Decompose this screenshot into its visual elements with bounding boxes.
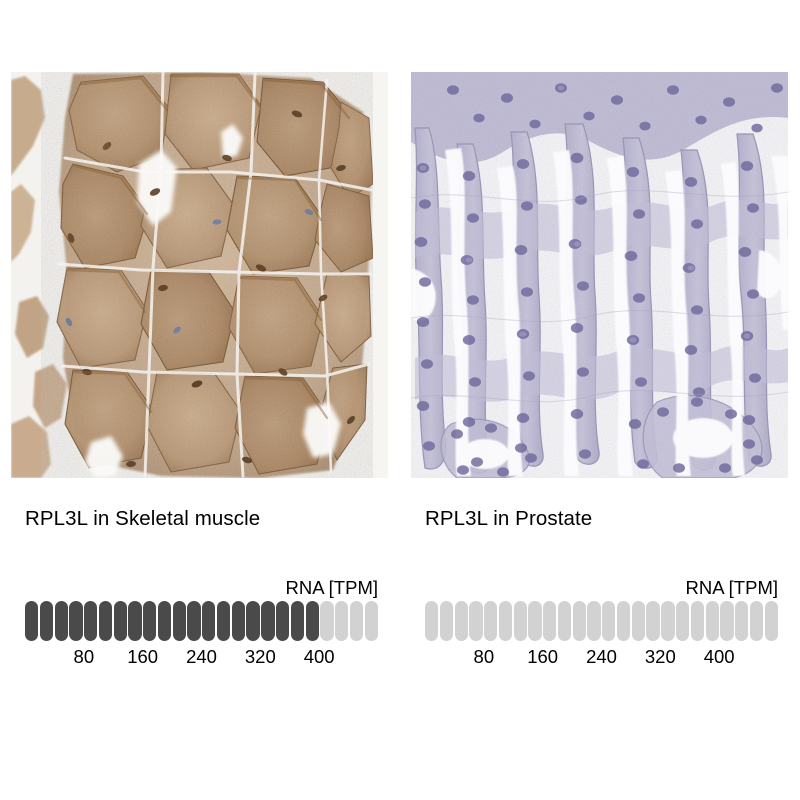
- rna-label-prostate: RNA [TPM]: [425, 577, 778, 599]
- rna-gauge-segment: [276, 601, 289, 641]
- rna-ticks-skeletal-muscle: 80160240320400: [25, 645, 378, 671]
- rna-gauge-segment: [217, 601, 230, 641]
- rna-gauge-segment: [335, 601, 348, 641]
- rna-gauge-segment: [617, 601, 630, 641]
- rna-tick-label: 320: [245, 645, 276, 669]
- rna-gauge-segment: [573, 601, 586, 641]
- rna-gauge-segment: [750, 601, 763, 641]
- rna-gauge-segment: [173, 601, 186, 641]
- panel-skeletal-muscle: RPL3L in Skeletal muscle RNA [TPM] 80160…: [0, 0, 400, 800]
- rna-tick-label: 160: [127, 645, 158, 669]
- rna-gauge-segment: [306, 601, 319, 641]
- caption-skeletal-muscle: RPL3L in Skeletal muscle: [25, 506, 260, 532]
- rna-gauge-segment: [143, 601, 156, 641]
- micrograph-prostate[interactable]: [411, 72, 788, 478]
- rna-label-skeletal-muscle: RNA [TPM]: [25, 577, 378, 599]
- rna-ticks-prostate: 80160240320400: [425, 645, 778, 671]
- rna-gauge-segment: [84, 601, 97, 641]
- rna-gauge-segment: [602, 601, 615, 641]
- rna-gauge-segment: [484, 601, 497, 641]
- rna-gauge-segment: [646, 601, 659, 641]
- rna-gauge-segment: [128, 601, 141, 641]
- rna-tick-label: 80: [74, 645, 95, 669]
- rna-gauge-segment: [514, 601, 527, 641]
- rna-gauge-segment: [528, 601, 541, 641]
- rna-gauge-segment: [99, 601, 112, 641]
- panel-prostate: RPL3L in Prostate RNA [TPM] 801602403204…: [400, 0, 800, 800]
- micrograph-skeletal-muscle[interactable]: [11, 72, 388, 478]
- rna-gauge-segment: [706, 601, 719, 641]
- rna-gauge-segment: [365, 601, 378, 641]
- rna-tick-label: 240: [186, 645, 217, 669]
- rna-gauge-segment: [720, 601, 733, 641]
- rna-gauge-segment: [425, 601, 438, 641]
- rna-gauge-segment: [69, 601, 82, 641]
- rna-gauge-prostate: [425, 601, 778, 641]
- rna-gauge-segment: [632, 601, 645, 641]
- rna-gauge-segment: [735, 601, 748, 641]
- rna-gauge-segment: [587, 601, 600, 641]
- rna-gauge-segment: [291, 601, 304, 641]
- rna-gauge-segment: [320, 601, 333, 641]
- rna-gauge-skeletal-muscle: [25, 601, 378, 641]
- rna-gauge-segment: [158, 601, 171, 641]
- rna-gauge-segment: [765, 601, 778, 641]
- rna-tick-label: 80: [474, 645, 495, 669]
- figure-root: RPL3L in Skeletal muscle RNA [TPM] 80160…: [0, 0, 800, 800]
- rna-tick-label: 400: [704, 645, 735, 669]
- micrograph-prostate-image: [411, 72, 788, 478]
- rna-gauge-segment: [440, 601, 453, 641]
- rna-gauge-segment: [55, 601, 68, 641]
- rna-gauge-segment: [469, 601, 482, 641]
- rna-tick-label: 240: [586, 645, 617, 669]
- rna-gauge-segment: [261, 601, 274, 641]
- caption-prostate: RPL3L in Prostate: [425, 506, 592, 532]
- rna-tick-label: 320: [645, 645, 676, 669]
- rna-gauge-segment: [455, 601, 468, 641]
- rna-gauge-segment: [499, 601, 512, 641]
- rna-gauge-segment: [661, 601, 674, 641]
- rna-gauge-segment: [40, 601, 53, 641]
- rna-tick-label: 160: [527, 645, 558, 669]
- micrograph-skeletal-muscle-image: [11, 72, 388, 478]
- rna-gauge-segment: [25, 601, 38, 641]
- rna-gauge-segment: [187, 601, 200, 641]
- rna-tick-label: 400: [304, 645, 335, 669]
- rna-gauge-segment: [676, 601, 689, 641]
- rna-gauge-segment: [558, 601, 571, 641]
- rna-gauge-segment: [543, 601, 556, 641]
- rna-gauge-segment: [246, 601, 259, 641]
- rna-gauge-segment: [114, 601, 127, 641]
- rna-gauge-segment: [202, 601, 215, 641]
- rna-gauge-segment: [232, 601, 245, 641]
- rna-gauge-segment: [691, 601, 704, 641]
- rna-gauge-segment: [350, 601, 363, 641]
